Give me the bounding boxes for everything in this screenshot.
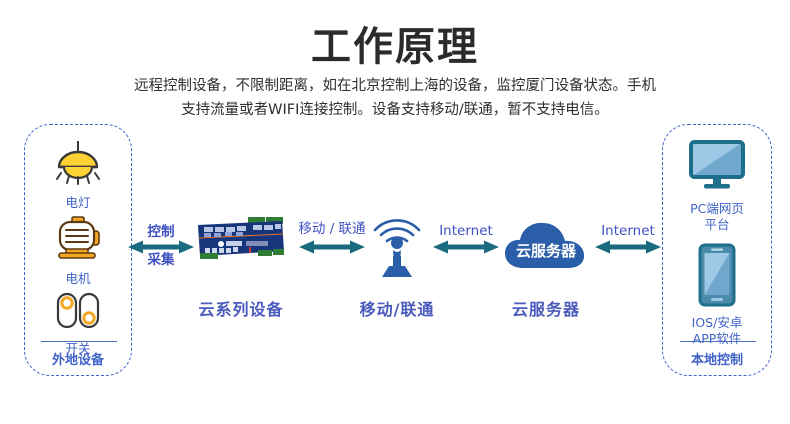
panel-item-mobile-app[interactable]: IOS/安卓 APP软件 — [663, 243, 771, 347]
arrow-internet-left — [433, 240, 499, 259]
arrow-label-internet-right: Internet — [586, 223, 670, 240]
arrow-label-control: 控制 — [128, 224, 194, 241]
smartphone-icon — [697, 243, 737, 312]
panel-item-pc-web[interactable]: PC端网页 平台 — [663, 139, 771, 233]
panel-item-lamp[interactable]: 电灯 — [25, 139, 131, 211]
page-subtitle: 远程控制设备，不限制距离，如在北京控制上海的设备，监控厦门设备状态。手机 支持流… — [95, 74, 695, 122]
panel-item-label-line1: PC端网页 — [663, 201, 771, 217]
panel-divider — [680, 341, 756, 342]
panel-footer-label: 外地设备 — [25, 349, 131, 368]
node-label-cloud: 云服务器 — [484, 296, 608, 320]
arrow-label-collect: 采集 — [128, 252, 194, 269]
panel-item-label-line1: IOS/安卓 — [663, 315, 771, 331]
panel-item-label: 电灯 — [25, 195, 131, 211]
wifi-tower-icon[interactable] — [362, 196, 432, 283]
panel-item-label: 电机 — [25, 271, 131, 287]
remote-devices-panel: 电灯 电机 — [24, 124, 132, 376]
subtitle-line-1: 远程控制设备，不限制距离，如在北京控制上海的设备，监控厦门设备状态。手机 — [95, 74, 695, 98]
subtitle-line-2: 支持流量或者WIFI连接控制。设备支持移动/联通，暂不支持电信。 — [95, 98, 695, 122]
diagram-canvas: 工作原理 远程控制设备，不限制距离，如在北京控制上海的设备，监控厦门设备状态。手… — [0, 0, 790, 424]
monitor-icon — [687, 139, 747, 198]
panel-item-label-line2: 平台 — [663, 217, 771, 233]
panel-item-label-line2: APP软件 — [663, 331, 771, 347]
panel-item-motor[interactable]: 电机 — [25, 215, 131, 287]
node-label-tower: 移动/联通 — [337, 296, 457, 320]
node-label-device: 云系列设备 — [181, 296, 301, 320]
cloud-inner-text: 云服务器 — [516, 242, 577, 260]
arrow-internet-right — [595, 240, 661, 259]
panel-divider — [41, 341, 117, 342]
cloud-icon[interactable]: 云服务器 — [503, 218, 589, 277]
switch-icon — [52, 291, 104, 338]
panel-item-switch[interactable]: 开关 — [25, 291, 131, 357]
panel-footer-label: 本地控制 — [663, 349, 771, 368]
motor-icon — [52, 215, 104, 268]
local-control-panel: PC端网页 平台 — [662, 124, 772, 376]
lamp-icon — [52, 139, 104, 192]
arrow-label-internet-left: Internet — [424, 223, 508, 240]
page-title: 工作原理 — [0, 14, 790, 72]
controller-board-icon[interactable] — [196, 216, 286, 265]
arrow-mobile-unicom — [299, 240, 365, 259]
